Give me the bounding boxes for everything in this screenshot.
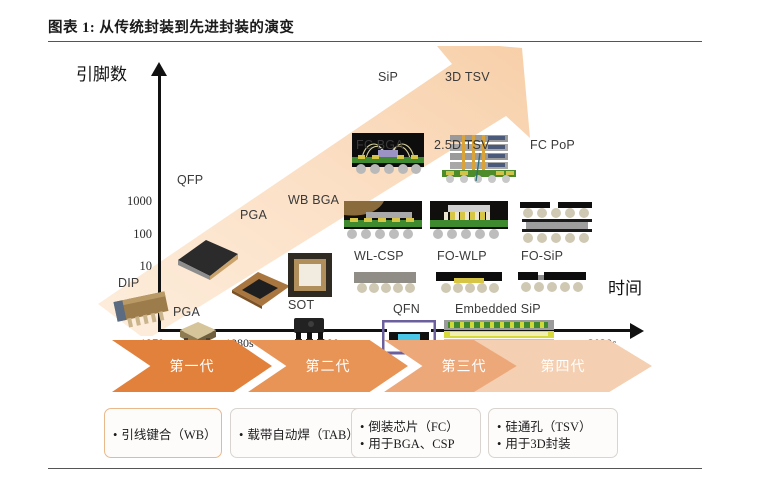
detail-box-4: 硅通孔（TSV） 用于3D封装 — [488, 408, 618, 458]
detail-box-2-line-1: 载带自动焊（TAB） — [239, 427, 357, 444]
detail-box-row: 引线键合（WB） 载带自动焊（TAB） 倒装芯片（FC） 用于BGA、CSP 硅… — [0, 408, 766, 460]
package-label-pga-large: PGA — [240, 208, 267, 222]
y-tick-100: 100 — [100, 227, 152, 242]
generation-label-2: 第二代 — [306, 356, 351, 376]
detail-box-4-line-2: 用于3D封装 — [497, 436, 609, 453]
detail-box-2: 载带自动焊（TAB） — [230, 408, 366, 458]
package-label-qfp: QFP — [177, 173, 203, 187]
package-label-wb-bga: WB BGA — [288, 193, 339, 207]
detail-box-1: 引线键合（WB） — [104, 408, 222, 458]
package-label-fc-bga: FC BGA — [356, 138, 404, 152]
package-thumb-fc-bga — [344, 201, 422, 249]
chart-area: 引脚数 时间 1000 100 10 1 1970s 1980s 1990s 2… — [0, 46, 766, 336]
package-label-sot: SOT — [288, 298, 314, 312]
package-label-fo-sip: FO-SiP — [521, 249, 563, 263]
package-label-qfn: QFN — [393, 302, 420, 316]
figure-title: 图表 1: 从传统封装到先进封装的演变 — [48, 16, 294, 37]
package-label-2-5d-tsv: 2.5D TSV — [434, 138, 490, 152]
package-label-embedded-sip: Embedded SiP — [455, 302, 541, 316]
package-label-sip: SiP — [378, 70, 398, 84]
package-thumb-2-5d-tsv — [430, 201, 508, 249]
bottom-divider — [48, 468, 702, 469]
figure-root: 图表 1: 从传统封装到先进封装的演变 引脚数 时间 1000 100 — [0, 0, 766, 480]
package-thumb-pga-large — [228, 268, 294, 312]
package-thumb-fo-sip — [516, 272, 588, 298]
detail-box-3-line-1: 倒装芯片（FC） — [360, 419, 472, 436]
package-thumb-fc-pop — [518, 201, 596, 249]
package-label-dip: DIP — [118, 276, 139, 290]
y-tick-1000: 1000 — [100, 194, 152, 209]
x-axis-arrowhead-icon — [630, 323, 644, 339]
x-axis-label: 时间 — [608, 274, 642, 299]
package-label-pga-small: PGA — [173, 305, 200, 319]
package-thumb-wl-csp — [350, 272, 420, 298]
package-thumb-fo-wlp — [434, 272, 504, 298]
detail-box-3-line-2: 用于BGA、CSP — [360, 436, 472, 453]
package-thumb-dip — [110, 288, 178, 334]
title-divider — [48, 41, 702, 42]
detail-box-3: 倒装芯片（FC） 用于BGA、CSP — [351, 408, 481, 458]
package-label-fo-wlp: FO-WLP — [437, 249, 487, 263]
detail-box-4-line-1: 硅通孔（TSV） — [497, 419, 609, 436]
y-axis-arrowhead-icon — [151, 62, 167, 76]
y-tick-10: 10 — [100, 259, 152, 274]
package-label-fc-pop: FC PoP — [530, 138, 575, 152]
generation-label-1: 第一代 — [170, 356, 215, 376]
generation-label-3: 第三代 — [442, 356, 487, 376]
detail-box-1-line-1: 引线键合（WB） — [113, 427, 213, 444]
generation-chevron-row: 第一代 第二代 第三代 第四代 — [0, 340, 766, 392]
generation-chevron-4[interactable]: 第四代 — [474, 340, 652, 392]
generation-label-4: 第四代 — [541, 356, 586, 376]
package-thumb-wb-bga — [286, 251, 334, 299]
package-label-3d-tsv: 3D TSV — [445, 70, 490, 84]
package-label-wl-csp: WL-CSP — [354, 249, 404, 263]
